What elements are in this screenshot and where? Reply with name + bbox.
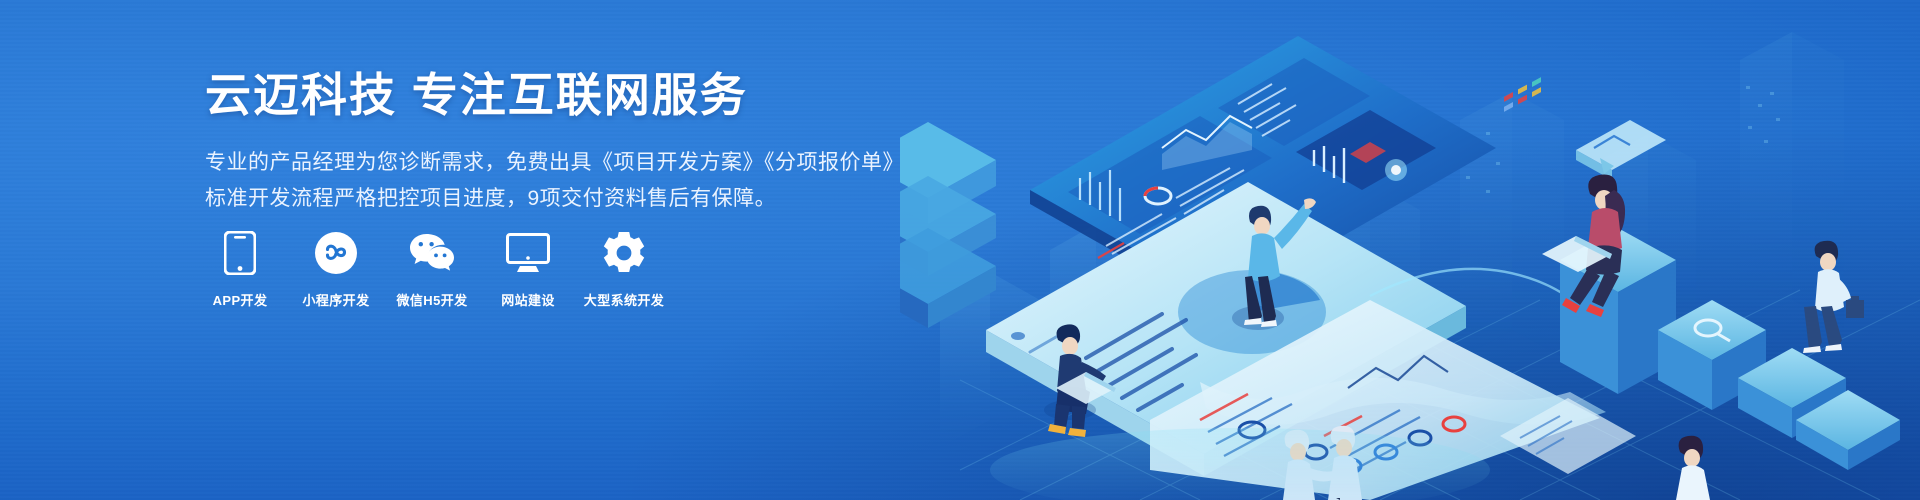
person-walking-briefcase xyxy=(1803,241,1864,353)
hero-illustration xyxy=(900,0,1920,500)
subtitle-line-1: 专业的产品经理为您诊断需求，免费出具《项目开发方案》《分项报价单》 xyxy=(205,145,925,181)
isometric-city-blocks xyxy=(940,32,1844,455)
sheet-text-lines xyxy=(1208,398,1420,472)
dashboard-screen xyxy=(1030,36,1496,316)
banner-subtitle: 专业的产品经理为您诊断需求，免费出具《项目开发方案》《分项报价单》 标准开发流程… xyxy=(205,145,925,217)
subtitle-line-2: 标准开发流程严格把控项目进度，9项交付资料售后有保障。 xyxy=(205,181,925,217)
pedestal-tall xyxy=(1560,228,1676,394)
pedestal-flat xyxy=(1796,390,1900,470)
gear-icon xyxy=(601,230,647,276)
banner-copy: 云迈科技 专注互联网服务 专业的产品经理为您诊断需求，免费出具《项目开发方案》《… xyxy=(205,68,925,217)
grid-floor xyxy=(960,290,1920,500)
sheet-donuts xyxy=(1239,417,1465,473)
service-item-wechat-h5[interactable]: 微信H5开发 xyxy=(395,230,469,309)
service-label: APP开发 xyxy=(213,290,268,309)
chat-bubble xyxy=(1576,120,1666,180)
service-label: 微信H5开发 xyxy=(396,290,467,309)
sheet-line-chart xyxy=(1348,356,1448,388)
screen-line-chart xyxy=(1162,116,1252,148)
service-item-mini-program[interactable]: 小程序开发 xyxy=(299,230,373,309)
search-icon xyxy=(1695,320,1730,341)
large-tablet-device xyxy=(986,182,1466,476)
person-sitting-laptop xyxy=(1044,324,1116,437)
mobile-phone-icon xyxy=(217,230,263,276)
person-standing-presenter xyxy=(1232,198,1316,330)
page-title: 云迈科技 专注互联网服务 xyxy=(205,68,925,123)
person-front-right xyxy=(1676,436,1710,500)
promo-banner: 云迈科技 专注互联网服务 专业的产品经理为您诊断需求，免费出具《项目开发方案》《… xyxy=(0,0,1920,500)
screen-accent-lines xyxy=(1098,243,1168,280)
screen-mini-bars xyxy=(1314,146,1344,183)
person-seated-on-block xyxy=(1542,175,1625,318)
service-label: 大型系统开发 xyxy=(584,290,664,309)
person-pair-discussing xyxy=(1283,426,1362,500)
screen-donut xyxy=(1145,188,1171,204)
service-item-website[interactable]: 网站建设 xyxy=(491,230,565,309)
screen-list-rows xyxy=(1238,84,1296,136)
mini-program-icon xyxy=(313,230,359,276)
sheet-accent-lines xyxy=(1200,394,1362,436)
tablet-streak-lines xyxy=(1086,314,1196,410)
pedestal-low xyxy=(1738,348,1846,438)
sheet-legend-grid xyxy=(1504,77,1541,112)
service-label: 小程序开发 xyxy=(302,290,369,309)
service-label: 网站建设 xyxy=(501,290,555,309)
monitor-icon xyxy=(505,230,551,276)
data-report-sheet xyxy=(1150,77,1606,500)
screen-bar-chart xyxy=(1080,170,1120,221)
wechat-icon xyxy=(409,230,455,276)
device-glow xyxy=(990,428,1490,500)
tower-dot-texture xyxy=(1466,86,1780,193)
front-kiosk-screen xyxy=(1500,398,1636,474)
screen-text-lines xyxy=(1106,168,1244,262)
pedestal-search-cube xyxy=(1658,300,1766,410)
connector-cable xyxy=(1370,269,1606,366)
service-item-app[interactable]: APP开发 xyxy=(203,230,277,309)
service-item-large-system[interactable]: 大型系统开发 xyxy=(587,230,661,309)
service-list: APP开发 小程序开发 微信 xyxy=(203,230,661,309)
